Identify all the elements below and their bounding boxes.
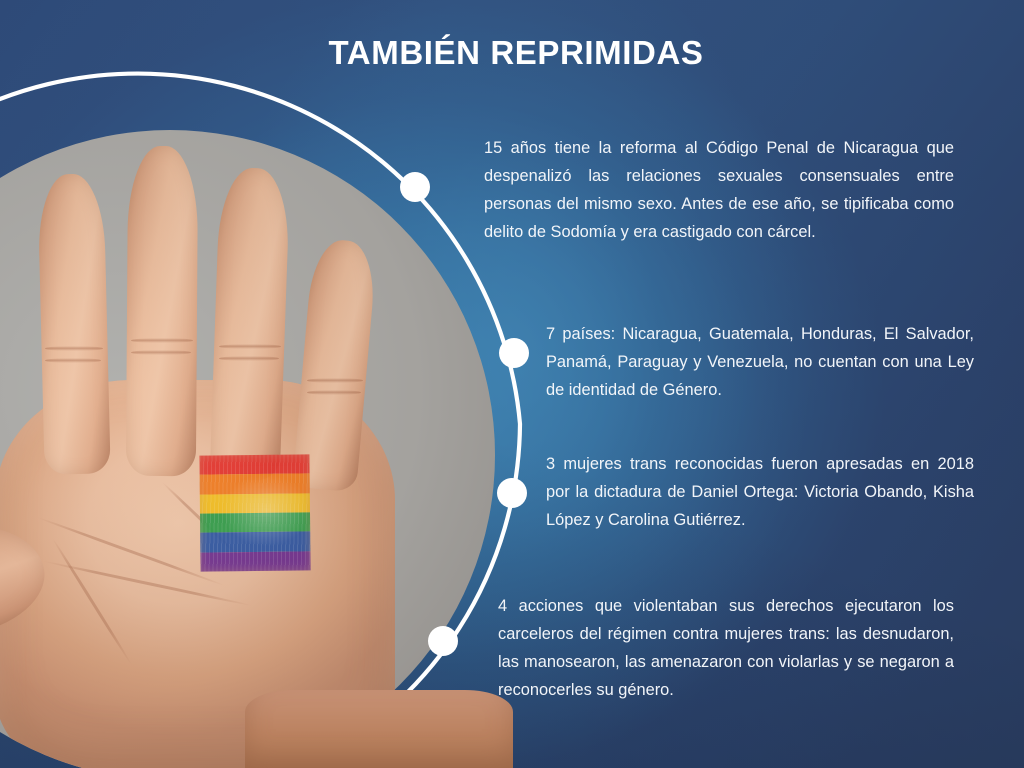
flag-stripe-orange	[200, 474, 310, 494]
hand-photo-circle	[0, 130, 495, 768]
hand-photo	[0, 130, 495, 768]
finger-crease	[45, 346, 103, 351]
flag-stripe-green	[200, 512, 310, 532]
hand-illustration	[0, 130, 495, 768]
finger-crease	[307, 378, 363, 383]
hand-wrist-overflow	[245, 690, 513, 768]
flag-stripe-red	[199, 454, 309, 474]
flag-stripe-purple	[200, 551, 310, 571]
flag-stripe-yellow	[200, 493, 310, 513]
rainbow-pride-flag	[199, 454, 310, 571]
flag-stripe-blue	[200, 532, 310, 552]
timeline-text-4: 4 acciones que violentaban sus derechos …	[498, 592, 954, 704]
infographic-canvas: TAMBIÉN REPRIMIDAS 15 años tiene la refo…	[0, 0, 1024, 768]
timeline-text-1: 15 años tiene la reforma al Código Penal…	[484, 134, 954, 246]
page-title: TAMBIÉN REPRIMIDAS	[0, 34, 1024, 72]
finger-crease	[131, 350, 191, 355]
finger-crease	[131, 338, 193, 343]
finger-crease	[45, 358, 101, 363]
timeline-text-3: 3 mujeres trans reconocidas fueron apres…	[546, 450, 974, 534]
finger-crease	[219, 344, 281, 349]
timeline-text-2: 7 países: Nicaragua, Guatemala, Honduras…	[546, 320, 974, 404]
hand-finger-middle	[126, 146, 198, 476]
finger-crease	[219, 356, 279, 361]
hand-finger-ring	[210, 167, 291, 481]
finger-crease	[307, 390, 361, 395]
hand-finger-index	[37, 173, 110, 475]
